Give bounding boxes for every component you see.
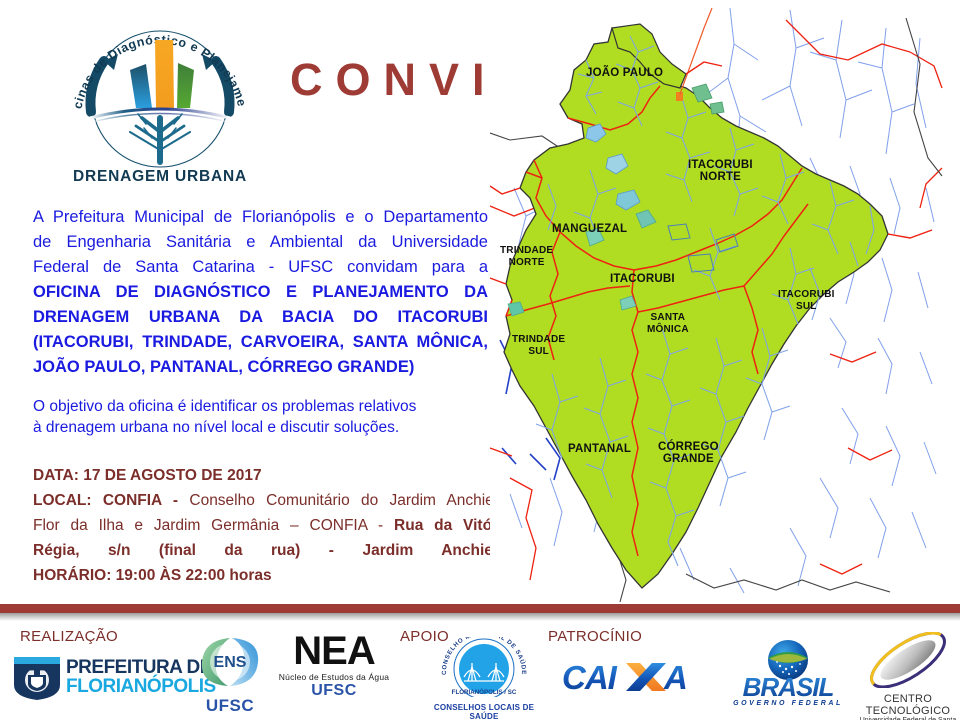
- footer-heading-realizacao: REALIZAÇÃO: [20, 628, 118, 645]
- invite-intro-line-2: de Engenharia Sanitária e Ambiental da U…: [33, 230, 488, 255]
- invite-intro-line-1: A Prefeitura Municipal de Florianópolis …: [33, 205, 488, 230]
- centro-tecnologico-ufsc-logo: CENTRO TECNOLÓGICO Universidade Federal …: [856, 632, 960, 710]
- nea-wordmark: NEA: [274, 631, 394, 671]
- brasil-subtitle: GOVERNO FEDERAL: [733, 700, 843, 707]
- footer-shadow-bar: [0, 613, 960, 621]
- footer-accent-bar: [0, 604, 960, 613]
- detail-local-line-3: Régia, s/n (final da rua) - Jardim Anchi…: [33, 538, 511, 563]
- map-label-trindade-sul: TRINDADE SUL: [512, 334, 565, 357]
- map-label-itacorubi-norte: ITACORUBI NORTE: [688, 160, 753, 183]
- detail-time: HORÁRIO: 19:00 ÀS 22:00 horas: [33, 563, 511, 588]
- prefeitura-florianopolis-logo: PREFEITURA DE FLORIANÓPOLIS: [12, 655, 190, 701]
- objective-block: O objetivo da oficina é identificar os p…: [33, 396, 493, 438]
- brasil-governo-federal-logo: BRASIL GOVERNO FEDERAL: [722, 638, 854, 708]
- objective-line-1: O objetivo da oficina é identificar os p…: [33, 396, 493, 417]
- detail-date-label: DATA:: [33, 467, 79, 484]
- svg-text:ENS: ENS: [214, 654, 247, 671]
- caixa-wordmark-icon: CAI A: [560, 655, 700, 700]
- detail-local-text-2: Flor da Ilha e Jardim Germânia – CONFIA …: [33, 517, 383, 534]
- logo-emblem-icon: Oficinas de Diagnóstico e Planejamento: [60, 14, 260, 174]
- nea-ufsc-logo: NEA Núcleo de Estudos da Água UFSC: [274, 631, 394, 711]
- brasil-globe-icon: BRASIL GOVERNO FEDERAL: [722, 638, 854, 708]
- detail-local-line-1: LOCAL: CONFIA - Conselho Comunitário do …: [33, 488, 511, 513]
- caixa-logo: CAI A: [560, 655, 700, 700]
- nea-ufsc-label: UFSC: [274, 682, 394, 700]
- map-label-manguezal: MANGUEZAL: [552, 224, 627, 236]
- invite-bold-line-1: OFICINA DE DIAGNÓSTICO E PLANEJAMENTO DA: [33, 280, 488, 305]
- svg-text:A: A: [663, 659, 688, 696]
- brasil-wordmark: BRASIL: [743, 672, 834, 702]
- detail-local-text-1: Conselho Comunitário do Jardim Anchieta,: [189, 492, 511, 509]
- invite-bold-line-2: DRENAGEM URBANA DA BACIA DO ITACORUBI: [33, 305, 488, 330]
- detail-local-bold-3: Régia, s/n (final da rua) - Jardim Anchi…: [33, 542, 511, 559]
- footer-heading-patrocinio: PATROCÍNIO: [548, 628, 642, 645]
- conselho-bridge-icon: CONSELHO MUNICIPAL DE SAÚDE FLORIANÓPOLI…: [428, 637, 540, 697]
- nea-subtitle: Núcleo de Estudos da Água: [274, 672, 394, 682]
- conselho-municipal-saude-logo: CONSELHO MUNICIPAL DE SAÚDE FLORIANÓPOLI…: [428, 637, 540, 711]
- itacorubi-basin-map: JOÃO PAULO ITACORUBI NORTE MANGUEZAL TRI…: [490, 8, 960, 603]
- map-label-santa-monica: SANTA MÔNICA: [647, 312, 689, 335]
- map-confluence-marker: [676, 92, 683, 101]
- detail-date-value: 17 DE AGOSTO DE 2017: [83, 467, 261, 484]
- logo-wordmark: DRENAGEM URBANA: [60, 168, 260, 186]
- map-label-pantanal: PANTANAL: [568, 444, 631, 456]
- map-label-joao-paulo: JOÃO PAULO: [586, 68, 663, 80]
- svg-text:CAI: CAI: [562, 659, 618, 696]
- detail-local-bold-1: CONFIA -: [103, 492, 178, 509]
- detail-date: DATA: 17 DE AGOSTO DE 2017: [33, 463, 511, 488]
- conselho-city-label: FLORIANÓPOLIS / SC: [452, 688, 517, 696]
- map-label-itacorubi: ITACORUBI: [610, 274, 675, 286]
- invite-bold-line-3: (ITACORUBI, TRINDADE, CARVOEIRA, SANTA M…: [33, 330, 488, 355]
- map-graphic: [490, 8, 960, 603]
- ctc-line-1: CENTRO TECNOLÓGICO: [856, 693, 960, 717]
- objective-line-2: à drenagem urbana no nível local e discu…: [33, 417, 493, 438]
- invitation-poster: Oficinas de Diagnóstico e Planejamento: [0, 0, 960, 720]
- detail-time-value: 19:00 ÀS 22:00 horas: [116, 567, 272, 584]
- invite-text-block: A Prefeitura Municipal de Florianópolis …: [33, 205, 488, 380]
- event-details: DATA: 17 DE AGOSTO DE 2017 LOCAL: CONFIA…: [33, 463, 511, 588]
- detail-time-label: HORÁRIO:: [33, 567, 111, 584]
- ctc-ellipse-icon: [856, 632, 960, 688]
- conselho-subtitle: CONSELHOS LOCAIS DE SAÚDE: [428, 703, 540, 720]
- map-label-itacorubi-sul: ITACORUBI SUL: [778, 289, 835, 312]
- map-label-corrego-grande: CÓRREGO GRANDE: [658, 442, 719, 465]
- ens-ufsc-label: UFSC: [188, 696, 272, 716]
- detail-local-label: LOCAL:: [33, 492, 92, 509]
- ens-swirl-icon: ENS: [188, 634, 272, 690]
- invite-bold-line-4: JOÃO PAULO, PANTANAL, CÓRREGO GRANDE): [33, 355, 488, 380]
- ens-ufsc-logo: ENS UFSC: [188, 634, 272, 710]
- map-label-trindade-norte: TRINDADE NORTE: [500, 245, 553, 268]
- detail-local-line-2: Flor da Ilha e Jardim Germânia – CONFIA …: [33, 513, 511, 538]
- drenagem-urbana-logo: Oficinas de Diagnóstico e Planejamento: [60, 14, 260, 204]
- invite-intro-line-3: Federal de Santa Catarina - UFSC convida…: [33, 255, 488, 280]
